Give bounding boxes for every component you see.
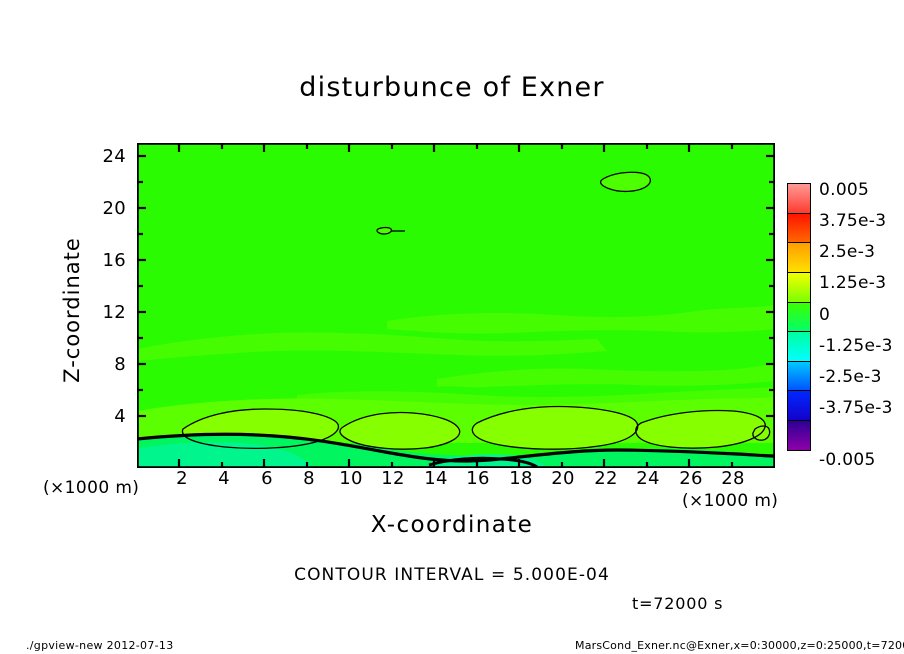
colorbar-tick-label: 3.75e-3 [819, 211, 886, 231]
colorbar-band[interactable] [787, 390, 811, 421]
x-axis-title: X-coordinate [0, 512, 904, 538]
figure-canvas: disturbunce of Exner Z-coordinate X-coor… [0, 0, 904, 654]
x-tick-label: 4 [212, 468, 236, 489]
x-tick-label: 14 [420, 468, 452, 489]
x-tick-label: 2 [170, 468, 194, 489]
time-annotation: t=72000 s [632, 594, 723, 613]
colorbar-band[interactable] [787, 420, 811, 451]
y-tick-label: 20 [88, 198, 126, 219]
colorbar-band[interactable] [787, 331, 811, 362]
y-tick-label: 4 [96, 406, 126, 427]
x-tick-label: 12 [377, 468, 409, 489]
x-units-right-label: (×1000 m) [682, 491, 778, 511]
colorbar-tick-label: 1.25e-3 [819, 273, 886, 293]
contour-plot-area [137, 143, 775, 468]
contour-interval-annotation: CONTOUR INTERVAL = 5.000E-04 [0, 565, 904, 585]
x-units-left-label: (×1000 m) [43, 478, 139, 498]
footer-command-label: ./gpview-new 2012-07-13 [26, 639, 174, 652]
colorbar-tick-label: -0.005 [819, 450, 876, 470]
colorbar-band[interactable] [787, 213, 811, 244]
colorbar-tick-label: 0.005 [819, 180, 869, 200]
colorbar-band[interactable] [787, 302, 811, 333]
x-tick-label: 8 [297, 468, 321, 489]
x-tick-label: 20 [547, 468, 579, 489]
colorbar-tick-label: -3.75e-3 [819, 398, 893, 418]
colorbar-tick-label: -1.25e-3 [819, 336, 893, 356]
y-axis-title: Z-coordinate [60, 200, 84, 420]
colorbar-band[interactable] [787, 361, 811, 392]
colorbar-tick-label: -2.5e-3 [819, 367, 882, 387]
x-tick-label: 28 [717, 468, 749, 489]
colorbar-tick-label: 2.5e-3 [819, 242, 875, 262]
field-fill-layer [137, 143, 775, 468]
colorbar-band[interactable] [787, 183, 811, 214]
y-tick-label: 16 [88, 250, 126, 271]
x-tick-label: 6 [255, 468, 279, 489]
colorbar-band[interactable] [787, 272, 811, 303]
colorbar-band[interactable] [787, 242, 811, 273]
footer-source-label: MarsCond_Exner.nc@Exner,x=0:30000,z=0:25… [575, 639, 904, 652]
colorbar[interactable] [787, 183, 811, 464]
x-tick-label: 26 [675, 468, 707, 489]
contour-plot-svg [137, 143, 775, 468]
y-tick-label: 8 [96, 354, 126, 375]
y-tick-label: 24 [88, 146, 126, 167]
x-tick-label: 24 [632, 468, 664, 489]
colorbar-tick-label: 0 [819, 305, 830, 325]
x-tick-label: 22 [590, 468, 622, 489]
page-title: disturbunce of Exner [0, 72, 904, 103]
x-tick-label: 10 [335, 468, 367, 489]
x-tick-label: 16 [462, 468, 494, 489]
x-tick-label: 18 [505, 468, 537, 489]
y-tick-label: 12 [88, 302, 126, 323]
